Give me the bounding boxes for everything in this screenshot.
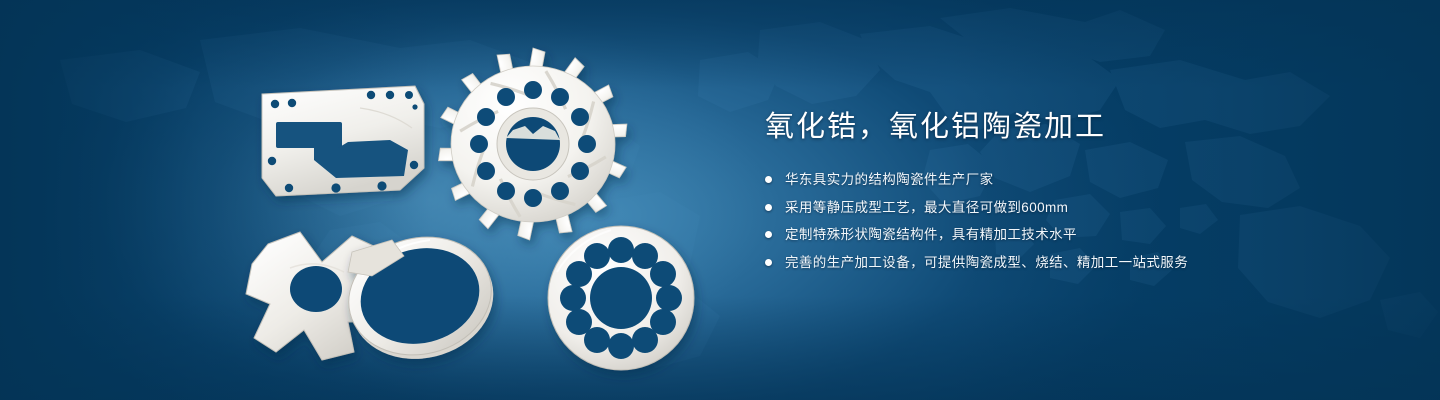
list-item-label: 完善的生产加工设备，可提供陶瓷成型、烧结、精加工一站式服务 bbox=[785, 253, 1188, 272]
list-item: 完善的生产加工设备，可提供陶瓷成型、烧结、精加工一站式服务 bbox=[765, 253, 1385, 272]
list-item-label: 定制特殊形状陶瓷结构件，具有精加工技术水平 bbox=[785, 225, 1077, 244]
product-images-group bbox=[0, 0, 760, 400]
list-item-label: 华东具实力的结构陶瓷件生产厂家 bbox=[785, 170, 994, 189]
bullet-dot-icon bbox=[765, 176, 772, 183]
ceramic-plate-image bbox=[262, 86, 424, 196]
bullet-dot-icon bbox=[765, 204, 772, 211]
page-title: 氧化锆，氧化铝陶瓷加工 bbox=[765, 108, 1385, 146]
hero-banner: 氧化锆，氧化铝陶瓷加工 华东具实力的结构陶瓷件生产厂家 采用等静压成型工艺，最大… bbox=[0, 0, 1440, 400]
ceramic-perforated-disc-image bbox=[548, 226, 694, 370]
list-item-label: 采用等静压成型工艺，最大直径可做到600mm bbox=[785, 198, 1068, 217]
bullet-dot-icon bbox=[765, 259, 772, 266]
list-item: 定制特殊形状陶瓷结构件，具有精加工技术水平 bbox=[765, 225, 1385, 244]
list-item: 采用等静压成型工艺，最大直径可做到600mm bbox=[765, 198, 1385, 217]
ceramic-impeller-image bbox=[436, 48, 629, 240]
bullet-dot-icon bbox=[765, 231, 772, 238]
feature-list: 华东具实力的结构陶瓷件生产厂家 采用等静压成型工艺，最大直径可做到600mm 定… bbox=[765, 170, 1385, 272]
list-item: 华东具实力的结构陶瓷件生产厂家 bbox=[765, 170, 1385, 189]
banner-text-column: 氧化锆，氧化铝陶瓷加工 华东具实力的结构陶瓷件生产厂家 采用等静压成型工艺，最大… bbox=[765, 108, 1385, 280]
